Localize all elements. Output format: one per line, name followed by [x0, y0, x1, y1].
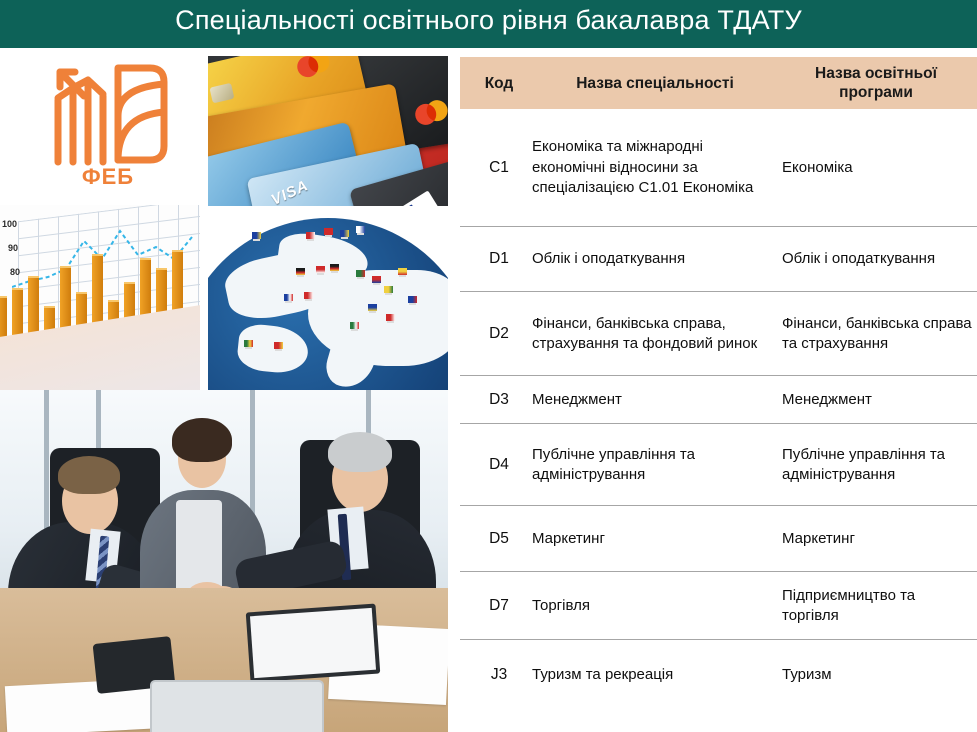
column-header-code: Код — [468, 74, 530, 93]
cell-code: D4 — [470, 455, 528, 476]
cell-specialty: Менеджмент — [532, 390, 778, 411]
cell-code: D2 — [470, 324, 528, 345]
cell-code: D5 — [470, 529, 528, 550]
credit-cards-image: VISAGold VISA VISA — [208, 56, 448, 206]
table-body: C1Економіка та міжнародні економічні від… — [460, 109, 977, 710]
cell-code: C1 — [470, 158, 528, 179]
cell-specialty: Туризм та рекреація — [532, 665, 778, 686]
table-row: D3МенеджментМенеджмент — [460, 376, 977, 424]
table-row: D5МаркетингМаркетинг — [460, 506, 977, 572]
table-row: J3Туризм та рекреаціяТуризм — [460, 640, 977, 710]
cell-program: Підприємництво та торгівля — [782, 586, 974, 627]
cell-program: Менеджмент — [782, 390, 974, 411]
globe-flags-image — [208, 210, 448, 390]
slide-root: Спеціальності освітнього рівня бакалавра… — [0, 0, 977, 732]
business-meeting-image — [0, 390, 448, 732]
specialties-table: Код Назва спеціальності Назва освітньої … — [460, 50, 977, 732]
cell-code: D1 — [470, 249, 528, 270]
page-title: Спеціальності освітнього рівня бакалавра… — [0, 5, 977, 36]
cell-code: D7 — [470, 596, 528, 617]
bar-chart-image: 100 90 80 70 — [0, 205, 200, 390]
table-row: D7ТоргівляПідприємництво та торгівля — [460, 572, 977, 640]
cell-specialty: Торгівля — [532, 596, 778, 617]
table-row: C1Економіка та міжнародні економічні від… — [460, 109, 977, 227]
table-header-row: Код Назва спеціальності Назва освітньої … — [460, 57, 977, 109]
cell-code: J3 — [470, 665, 528, 686]
table-row: D1Облік і оподаткуванняОблік і оподаткув… — [460, 227, 977, 292]
table-row: D4Публічне управління та адміністрування… — [460, 424, 977, 506]
cell-program: Туризм — [782, 665, 974, 686]
table-row: D2Фінанси, банківська справа, страхуванн… — [460, 292, 977, 376]
cell-program: Економіка — [782, 158, 974, 179]
cell-program: Фінанси, банківська справа та страхуванн… — [782, 314, 974, 355]
cell-specialty: Облік і оподаткування — [532, 249, 778, 270]
cell-specialty: Маркетинг — [532, 529, 778, 550]
cell-program: Облік і оподаткування — [782, 249, 974, 270]
cell-code: D3 — [470, 390, 528, 411]
column-header-specialty: Назва спеціальності — [530, 74, 780, 93]
cell-program: Публічне управління та адміністрування — [782, 445, 974, 486]
cell-specialty: Публічне управління та адміністрування — [532, 445, 778, 486]
faculty-logo: ФЕБ — [18, 52, 198, 202]
logo-abbreviation: ФЕБ — [18, 164, 198, 190]
cell-program: Маркетинг — [782, 529, 974, 550]
growth-arrow-leaf-icon — [40, 54, 176, 172]
column-header-program: Назва освітньої програми — [780, 64, 972, 102]
cell-specialty: Фінанси, банківська справа, страхування … — [532, 314, 778, 355]
cell-specialty: Економіка та міжнародні економічні відно… — [532, 137, 778, 199]
